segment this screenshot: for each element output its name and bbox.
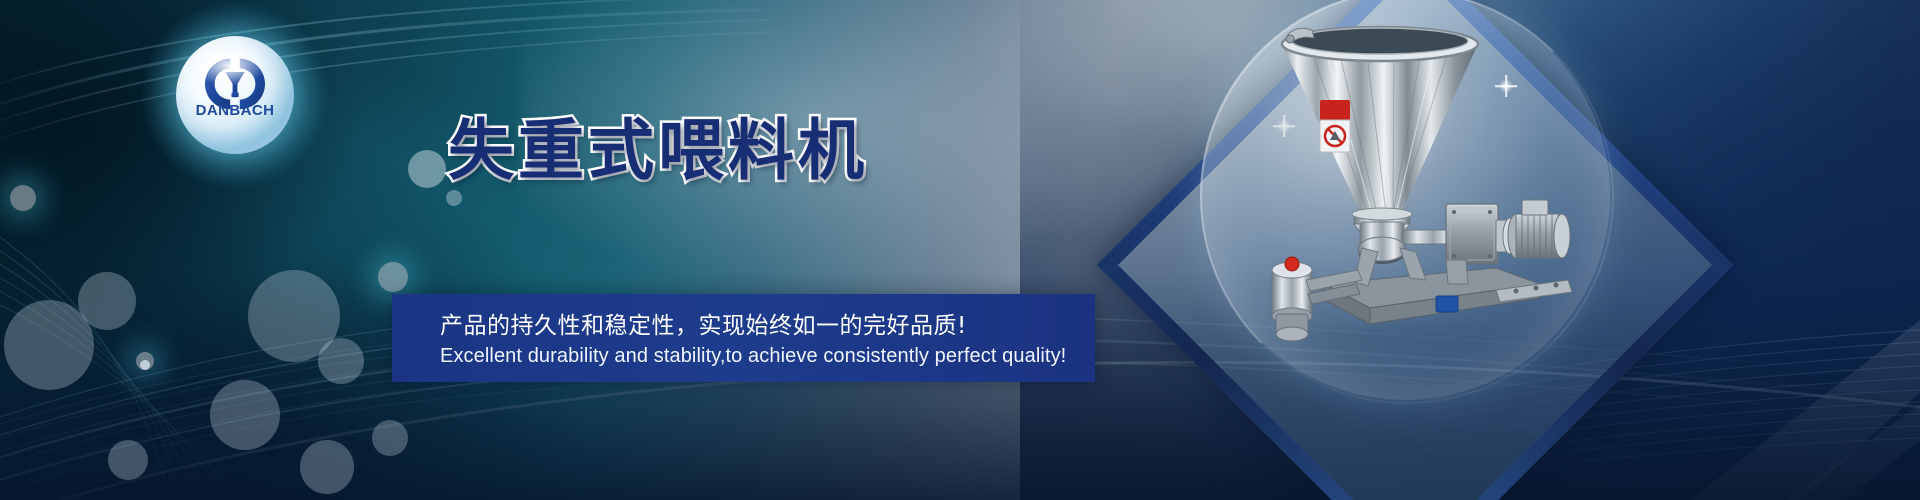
brand-logo[interactable]: DANBACH <box>176 36 294 154</box>
tagline-chinese: 产品的持久性和稳定性，实现始终如一的完好品质! <box>440 306 967 340</box>
tagline-english: Excellent durability and stability,to ac… <box>440 345 1066 368</box>
logo-sphere: DANBACH <box>176 36 294 154</box>
tagline-panel: 产品的持久性和稳定性，实现始终如一的完好品质! Excellent durabi… <box>392 294 1095 382</box>
page-title: 失重式喂料机 <box>448 118 868 184</box>
product-image-loss-in-weight-feeder <box>1250 8 1580 368</box>
product-showcase <box>1080 0 1720 500</box>
logo-wordmark: DANBACH <box>176 102 294 119</box>
product-hero-banner: DANBACH 失重式喂料机 产品的持久性和稳定性，实现始终如一的完好品质! E… <box>0 0 1920 500</box>
